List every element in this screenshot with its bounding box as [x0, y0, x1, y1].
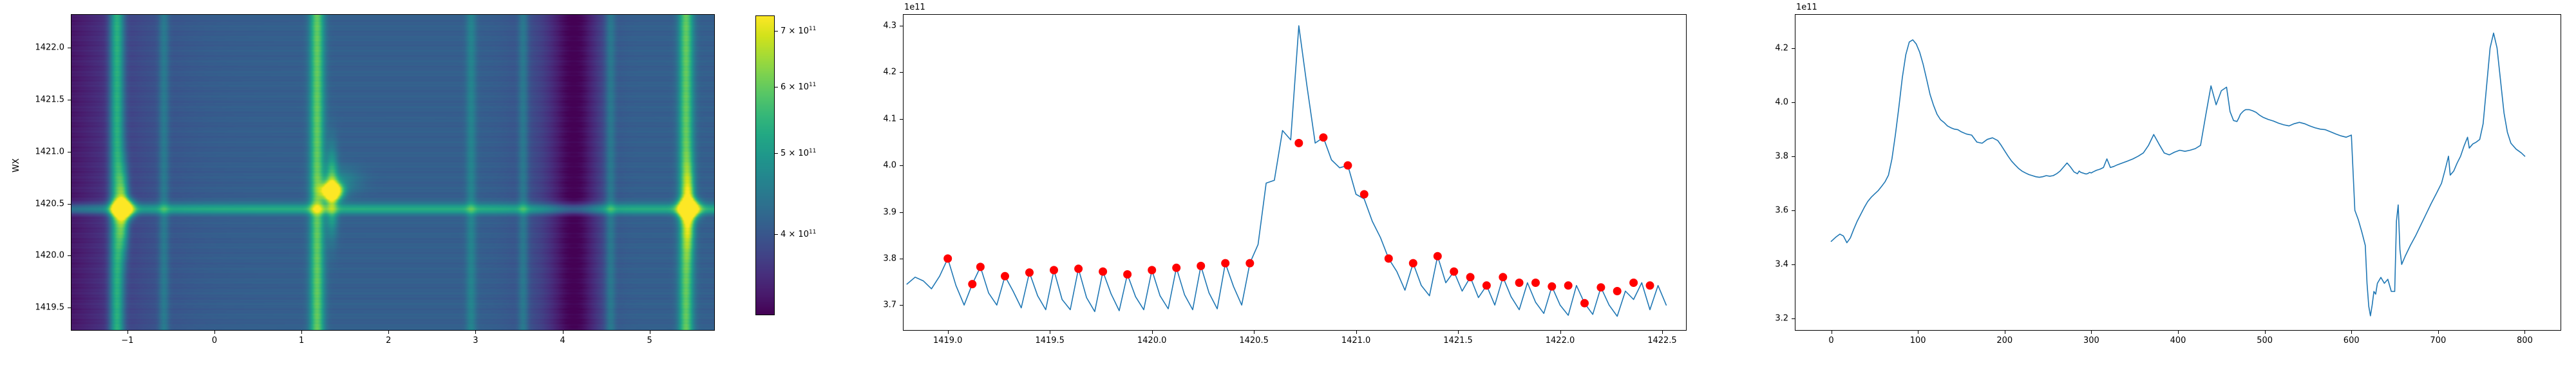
heatmap-x-tick — [475, 331, 476, 334]
heatmap-x-tick-label: 4 — [560, 336, 565, 345]
heatmap-x-tick — [301, 331, 302, 334]
heatmap-y-tick — [68, 152, 71, 152]
colorbar-tick — [775, 153, 778, 154]
timeseries-x-tick-label: 700 — [2430, 336, 2446, 345]
spectrum-x-tick — [1356, 331, 1357, 334]
spectrum-x-tick-label: 1419.0 — [933, 336, 963, 345]
colorbar-tick-label: 5 × 1011 — [781, 148, 816, 158]
spectrum-line — [907, 26, 1666, 317]
peak-marker — [1197, 262, 1205, 270]
timeseries-x-tick-label: 600 — [2344, 336, 2360, 345]
colorbar-tick — [775, 31, 778, 32]
spectrum-x-tick — [1050, 331, 1050, 334]
heatmap-x-tick — [388, 331, 389, 334]
peak-marker — [1409, 259, 1417, 268]
heatmap-y-tick-label: 1420.5 — [19, 199, 64, 208]
timeseries-x-tick — [2265, 331, 2266, 334]
spectrum-x-tick — [1152, 331, 1153, 334]
colorbar[interactable] — [755, 15, 775, 315]
peak-marker — [1629, 279, 1638, 287]
peak-marker — [1294, 139, 1303, 147]
timeseries-x-tick-label: 0 — [1828, 336, 1833, 345]
spectrum-x-tick-label: 1419.5 — [1035, 336, 1065, 345]
timeseries-x-tick-label: 100 — [1910, 336, 1926, 345]
spectrum-y-tick-label: 3.7 — [853, 300, 896, 310]
peak-marker — [1434, 252, 1442, 261]
heatmap-y-tick-label: 1419.5 — [19, 303, 64, 313]
timeseries-x-tick-label: 400 — [2170, 336, 2186, 345]
peak-marker — [1466, 273, 1475, 281]
spectrum-panel[interactable] — [903, 14, 1687, 331]
timeseries-y-offset-text: 1e11 — [1796, 3, 1817, 12]
peak-marker — [943, 254, 952, 262]
peak-marker — [1515, 279, 1524, 287]
peak-marker — [1596, 283, 1605, 291]
spectrum-y-tick — [900, 259, 903, 259]
timeseries-x-tick-label: 500 — [2257, 336, 2273, 345]
heatmap-x-tick — [128, 331, 128, 334]
heatmap-x-tick-label: 3 — [473, 336, 478, 345]
heatmap-x-tick-label: 0 — [212, 336, 217, 345]
spectrum-y-offset-text: 1e11 — [904, 3, 925, 12]
heatmap-x-tick — [214, 331, 215, 334]
peak-marker — [1001, 272, 1009, 280]
spectrum-y-tick-label: 3.9 — [853, 207, 896, 217]
timeseries-y-tick-label: 4.2 — [1745, 43, 1788, 53]
spectrum-x-tick-label: 1420.5 — [1239, 336, 1269, 345]
spectrum-x-tick — [1458, 331, 1459, 334]
spectrum-y-tick-label: 4.2 — [853, 68, 896, 77]
heatmap-x-tick-label: 5 — [647, 336, 652, 345]
timeseries-x-tick — [2524, 331, 2525, 334]
peak-marker — [1548, 282, 1556, 291]
timeseries-y-tick-label: 3.4 — [1745, 259, 1788, 269]
timeseries-y-tick — [1792, 102, 1795, 103]
peak-marker — [1499, 273, 1507, 281]
timeseries-y-tick — [1792, 210, 1795, 211]
spectrum-x-tick-label: 1422.5 — [1647, 336, 1677, 345]
timeseries-y-tick — [1792, 264, 1795, 265]
spectrum-y-tick — [900, 212, 903, 213]
timeseries-y-tick-label: 3.8 — [1745, 151, 1788, 161]
timeseries-x-tick — [2351, 331, 2352, 334]
heatmap-y-tick — [68, 100, 71, 100]
colorbar-tick-label: 7 × 1011 — [781, 26, 816, 36]
peak-marker — [1531, 279, 1540, 287]
heatmap-x-tick-label: 1 — [299, 336, 304, 345]
peak-marker — [1343, 161, 1352, 170]
heatmap-y-tick-label: 1421.5 — [19, 95, 64, 104]
peak-marker — [1564, 281, 1573, 289]
peak-marker — [1385, 254, 1393, 262]
peak-marker — [1148, 266, 1156, 274]
peak-marker — [1074, 264, 1083, 273]
peak-marker — [1025, 268, 1034, 277]
heatmap-y-tick — [68, 48, 71, 48]
heatmap-image[interactable] — [71, 14, 715, 331]
colorbar-tick — [775, 234, 778, 235]
spectrum-y-tick — [900, 72, 903, 73]
timeseries-x-tick — [1832, 331, 1832, 334]
timeseries-x-tick — [2178, 331, 2179, 334]
peak-marker — [1172, 264, 1180, 272]
heatmap-x-tick — [650, 331, 650, 334]
peak-marker — [1099, 268, 1107, 276]
timeseries-y-tick-label: 3.6 — [1745, 205, 1788, 215]
heatmap-panel[interactable] — [71, 14, 715, 331]
peak-marker — [976, 262, 985, 271]
heatmap-y-tick-label: 1420.0 — [19, 251, 64, 261]
colorbar-tick-label: 4 × 1011 — [781, 229, 816, 239]
timeseries-y-tick-label: 3.2 — [1745, 314, 1788, 324]
spectrum-y-tick — [900, 305, 903, 306]
timeseries-x-tick — [2438, 331, 2439, 334]
spectrum-x-tick-label: 1421.5 — [1443, 336, 1473, 345]
timeseries-y-tick — [1792, 48, 1795, 49]
heatmap-y-tick — [68, 308, 71, 308]
spectrum-x-tick — [1254, 331, 1255, 334]
heatmap-y-tick-label: 1421.0 — [19, 147, 64, 156]
spectrum-x-tick-label: 1421.0 — [1341, 336, 1371, 345]
heatmap-y-tick — [68, 255, 71, 256]
peak-marker — [1613, 287, 1622, 295]
peak-marker — [1646, 281, 1654, 289]
colorbar-tick-label: 6 × 1011 — [781, 82, 816, 92]
peak-marker — [1221, 259, 1229, 268]
timeseries-x-tick-label: 200 — [1996, 336, 2012, 345]
peak-marker — [1450, 268, 1458, 276]
timeseries-x-tick-label: 800 — [2517, 336, 2533, 345]
timeseries-panel[interactable] — [1795, 14, 2561, 331]
spectrum-y-tick-label: 3.8 — [853, 253, 896, 263]
peak-marker — [1319, 133, 1327, 142]
heatmap-x-tick — [563, 331, 563, 334]
peak-marker — [968, 280, 976, 288]
timeseries-line — [1832, 33, 2525, 316]
timeseries-x-tick-label: 300 — [2083, 336, 2099, 345]
spectrum-y-tick — [900, 165, 903, 166]
colorbar-tick — [775, 87, 778, 87]
spectrum-y-tick — [900, 119, 903, 120]
timeseries-y-tick-label: 4.0 — [1745, 97, 1788, 107]
spectrum-x-tick — [1560, 331, 1561, 334]
peak-marker — [1123, 270, 1132, 279]
peak-marker — [1482, 281, 1491, 289]
peak-marker — [1360, 190, 1368, 199]
timeseries-x-tick — [2005, 331, 2005, 334]
heatmap-x-tick-label: 2 — [386, 336, 391, 345]
heatmap-x-tick-label: −1 — [121, 336, 133, 345]
spectrum-x-tick — [948, 331, 949, 334]
figure-canvas: 1419.51420.01420.51421.01421.51422.0 −10… — [0, 0, 2576, 386]
spectrum-x-tick-label: 1422.0 — [1546, 336, 1575, 345]
timeseries-x-tick — [2091, 331, 2092, 334]
spectrum-peak-markers — [943, 133, 1654, 308]
spectrum-y-tick-label: 4.1 — [853, 114, 896, 124]
spectrum-y-tick-label: 4.3 — [853, 21, 896, 31]
heatmap-y-tick — [68, 204, 71, 205]
heatmap-y-tick-label: 1422.0 — [19, 42, 64, 52]
peak-marker — [1245, 259, 1254, 268]
timeseries-y-tick — [1792, 156, 1795, 157]
timeseries-y-tick — [1792, 318, 1795, 319]
spectrum-y-tick — [900, 26, 903, 26]
peak-marker — [1580, 299, 1589, 308]
peak-marker — [1050, 266, 1058, 274]
spectrum-x-tick-label: 1420.0 — [1137, 336, 1167, 345]
heatmap-y-axis-label: WX — [12, 158, 21, 172]
spectrum-y-tick-label: 4.0 — [853, 161, 896, 170]
timeseries-x-tick — [1918, 331, 1918, 334]
spectrum-x-tick — [1662, 331, 1663, 334]
